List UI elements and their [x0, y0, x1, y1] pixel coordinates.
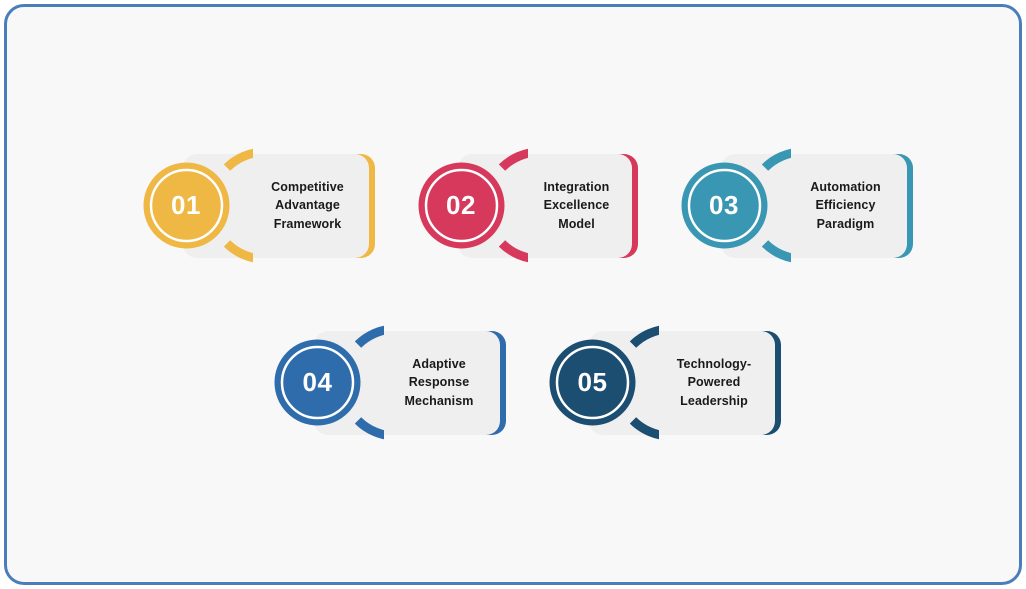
step-item-03[interactable]: 03 Automation Efficiency Paradigm: [658, 139, 907, 272]
step-label-02: Integration Excellence Model: [536, 178, 618, 232]
badge-rings-icon: [658, 139, 791, 272]
step-label-04: Adaptive Response Mechanism: [392, 355, 486, 409]
step-label-03: Automation Efficiency Paradigm: [799, 178, 893, 232]
outer-arc-ring: [227, 152, 253, 259]
infographic-canvas: 01 Competitive Advantage Framework: [0, 0, 1026, 589]
step-badge-05[interactable]: 05: [526, 316, 659, 449]
badge-rings-icon: [526, 316, 659, 449]
inner-filled-circle: [275, 340, 361, 426]
step-label-05: Technology-Powered Leadership: [667, 355, 761, 409]
step-item-04[interactable]: 04 Adaptive Response Mechanism: [251, 316, 500, 449]
badge-rings-icon: [120, 139, 253, 272]
inner-filled-circle: [143, 163, 229, 249]
bottom-row: 04 Adaptive Response Mechanism: [0, 316, 1026, 449]
step-badge-01[interactable]: 01: [120, 139, 253, 272]
outer-arc-ring: [358, 329, 384, 436]
inner-filled-circle: [418, 163, 504, 249]
top-row: 01 Competitive Advantage Framework: [0, 139, 1026, 272]
outer-arc-ring: [502, 152, 528, 259]
inner-filled-circle: [681, 163, 767, 249]
inner-filled-circle: [550, 340, 636, 426]
step-badge-02[interactable]: 02: [395, 139, 528, 272]
step-badge-04[interactable]: 04: [251, 316, 384, 449]
step-item-05[interactable]: 05 Technology-Powered Leadership: [526, 316, 775, 449]
step-item-01[interactable]: 01 Competitive Advantage Framework: [120, 139, 369, 272]
step-badge-03[interactable]: 03: [658, 139, 791, 272]
steps-container: 01 Competitive Advantage Framework: [0, 0, 1026, 589]
outer-arc-ring: [765, 152, 791, 259]
badge-rings-icon: [395, 139, 528, 272]
badge-rings-icon: [251, 316, 384, 449]
outer-arc-ring: [633, 329, 659, 436]
step-item-02[interactable]: 02 Integration Excellence Model: [395, 139, 632, 272]
step-label-01: Competitive Advantage Framework: [261, 178, 355, 232]
